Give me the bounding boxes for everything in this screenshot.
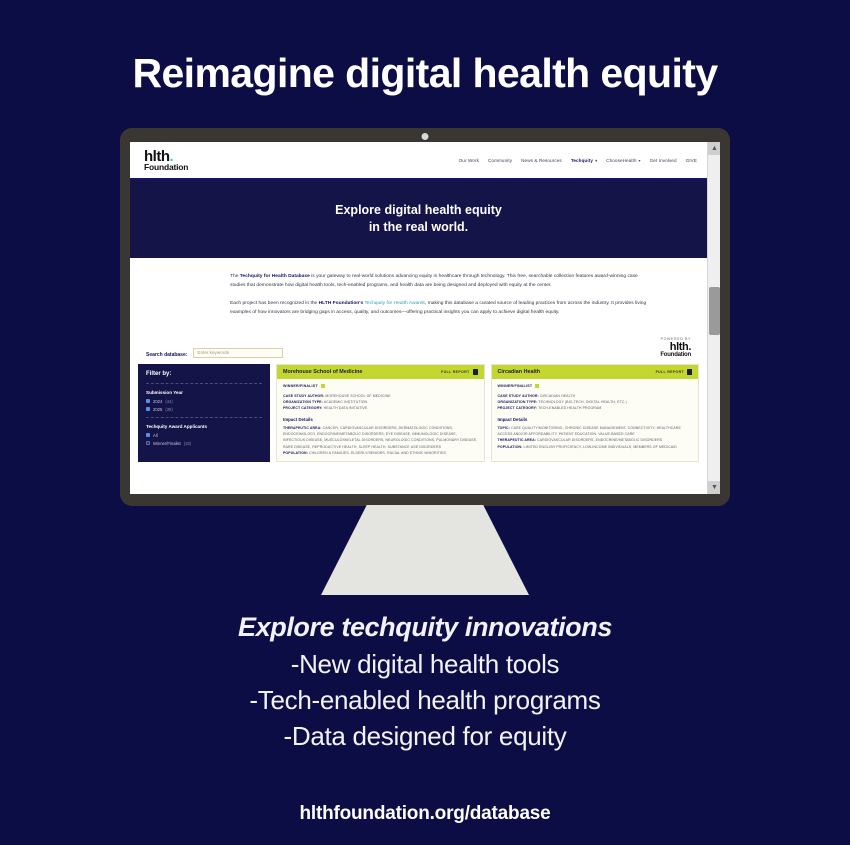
status-badge: WINNER/FINALIST — [283, 384, 478, 388]
hero-title-line-1: Explore digital health equity — [335, 202, 502, 219]
filter-group-submission-year: Submission Year — [146, 390, 262, 395]
result-card-header: Morehouse School of Medicine FULL REPORT — [277, 365, 484, 379]
nav-item-news-resources[interactable]: News & Resources — [521, 158, 562, 163]
meta-key: CASE STUDY AUTHOR: — [498, 394, 539, 398]
search-row: Search database: Enter keywords POWERED … — [130, 334, 707, 364]
intro-p2-bold: HLTH Foundation's — [319, 301, 364, 306]
impact-row: POPULATION: CHILDREN & FAMILIES, ELDERLY… — [283, 450, 478, 456]
hero-title-line-2: in the real world. — [335, 219, 502, 236]
nav-item-community[interactable]: Community — [488, 158, 512, 163]
scrollbar-thumb[interactable] — [709, 287, 720, 335]
impact-key: POPULATION: — [283, 451, 308, 455]
impact-key: THERAPEUTIC AREA: — [498, 438, 537, 442]
impact-value: CARE QUALITY/MONITORING, CHRONIC DISEASE… — [498, 426, 681, 436]
filter-option-all[interactable]: All — [146, 433, 262, 438]
document-icon — [473, 369, 478, 375]
intro-p2-pre: Each project has been recognized in the — [230, 301, 319, 306]
hero-title: Explore digital health equity in the rea… — [335, 202, 502, 236]
search-input[interactable]: Enter keywords — [193, 348, 283, 358]
impact-details-title: Impact Details — [283, 417, 478, 422]
meta-key: CASE STUDY AUTHOR: — [283, 394, 324, 398]
hero-banner: Explore digital health equity in the rea… — [130, 180, 707, 258]
filter-option-2025[interactable]: 2025 (39) — [146, 407, 262, 412]
meta-key: ORGANIZATION TYPE: — [498, 400, 538, 404]
result-card-title: Morehouse School of Medicine — [283, 369, 362, 375]
status-badge-label: WINNER/FINALIST — [498, 384, 533, 388]
meta-value: CIRCADIAN HEALTH — [540, 394, 575, 398]
result-card-header: Circadian Health FULL REPORT — [492, 365, 699, 379]
meta-value: MOREHOUSE SCHOOL OF MEDICINE — [325, 394, 390, 398]
full-report-label: FULL REPORT — [441, 370, 469, 374]
filter-option-label: All — [153, 433, 158, 438]
checkbox-icon[interactable] — [146, 433, 150, 437]
powered-by-logo-secondary: Foundation — [660, 352, 691, 358]
website-viewport: hlth. Foundation Our Work Community News… — [130, 142, 707, 494]
nav-item-give[interactable]: GIVE — [686, 158, 697, 163]
filter-option-label: Winner/Finalist — [153, 441, 181, 446]
nav-item-choosehealth-label: ChooseHealth — [606, 158, 636, 163]
impact-row: POPULATION: LIMITED ENGLISH PROFICIENCY,… — [498, 444, 693, 450]
filter-option-count: (18) — [184, 441, 191, 446]
badge-square-icon — [321, 384, 325, 388]
filter-divider — [146, 383, 262, 384]
nav-item-techquity[interactable]: Techquity▾ — [571, 158, 597, 163]
chevron-down-icon: ▾ — [595, 158, 597, 163]
filter-sidebar: Filter by: Submission Year 2024 (44) 202… — [138, 364, 270, 462]
filter-option-count: (44) — [165, 399, 172, 404]
filter-group-award-applicants: Techquity Award Applicants — [146, 424, 262, 429]
filter-option-winner-finalist[interactable]: Winner/Finalist (18) — [146, 441, 262, 446]
intro-p1-bold: Techquity for Health Database — [240, 274, 310, 279]
nav-item-our-work[interactable]: Our Work — [459, 158, 479, 163]
scroll-down-arrow-icon[interactable]: ▼ — [708, 481, 720, 494]
status-badge: WINNER/FINALIST — [498, 384, 693, 388]
monitor-device: hlth. Foundation Our Work Community News… — [120, 128, 730, 506]
intro-paragraph-2: Each project has been recognized in the … — [230, 299, 647, 317]
checkbox-icon[interactable] — [146, 399, 150, 403]
nav-item-choosehealth[interactable]: ChooseHealth▾ — [606, 158, 640, 163]
webcam-icon — [422, 133, 429, 140]
result-card[interactable]: Circadian Health FULL REPORT WINNER/FINA… — [491, 364, 700, 462]
checkbox-icon[interactable] — [146, 407, 150, 411]
meta-value: HEALTH DATA INITIATIVE — [324, 406, 368, 410]
meta-key: PROJECT CATEGORY: — [498, 406, 538, 410]
meta-value: ACADEMIC INSTITUTION — [324, 400, 367, 404]
impact-key: THERAPEUTIC AREA: — [283, 426, 322, 430]
filter-title: Filter by: — [146, 371, 262, 377]
result-card[interactable]: Morehouse School of Medicine FULL REPORT… — [276, 364, 485, 462]
impact-details-title: Impact Details — [498, 417, 693, 422]
full-report-link[interactable]: FULL REPORT — [441, 369, 477, 375]
search-label: Search database: — [146, 352, 187, 358]
impact-value: LIMITED ENGLISH PROFICIENCY, LOW-INCOME … — [524, 445, 677, 449]
hlth-foundation-logo[interactable]: hlth. Foundation — [144, 149, 188, 172]
filter-option-label: 2024 — [153, 399, 162, 404]
checkbox-icon[interactable] — [146, 441, 150, 445]
full-report-label: FULL REPORT — [656, 370, 684, 374]
meta-key: PROJECT CATEGORY: — [283, 406, 323, 410]
site-header: hlth. Foundation Our Work Community News… — [130, 142, 707, 180]
impact-key: POPULATION: — [498, 445, 523, 449]
scroll-up-arrow-icon[interactable]: ▲ — [708, 142, 720, 155]
caption-line-2: -Tech-enabled health programs — [0, 683, 850, 719]
intro-copy: The Techquity for Health Database is you… — [130, 258, 707, 334]
caption-line-3: -Data designed for equity — [0, 719, 850, 755]
filter-option-2024[interactable]: 2024 (44) — [146, 399, 262, 404]
chevron-down-icon: ▾ — [639, 158, 641, 163]
meta-row: PROJECT CATEGORY: TECH-ENABLED HEALTH PR… — [498, 405, 693, 411]
impact-key: TOPIC: — [498, 426, 510, 430]
caption-emphasis: Explore techquity innovations — [0, 612, 850, 643]
meta-value: TECH-ENABLED HEALTH PROGRAM — [538, 406, 601, 410]
nav-item-techquity-label: Techquity — [571, 158, 593, 163]
meta-key: ORGANIZATION TYPE: — [283, 400, 323, 404]
nav-item-get-involved[interactable]: Get Involved — [650, 158, 677, 163]
badge-square-icon — [535, 384, 539, 388]
filter-option-count: (39) — [165, 407, 172, 412]
impact-value: CARDIOVASCULAR DISORDERS, ENDOCRINE/META… — [537, 438, 662, 442]
results-area: Filter by: Submission Year 2024 (44) 202… — [130, 364, 707, 462]
browser-screen: hlth. Foundation Our Work Community News… — [130, 142, 720, 494]
full-report-link[interactable]: FULL REPORT — [656, 369, 692, 375]
monitor-bezel: hlth. Foundation Our Work Community News… — [120, 128, 730, 506]
caption-line-1: -New digital health tools — [0, 647, 850, 683]
meta-row: PROJECT CATEGORY: HEALTH DATA INITIATIVE — [283, 405, 478, 411]
result-card-title: Circadian Health — [498, 369, 541, 375]
impact-row: TOPIC: CARE QUALITY/MONITORING, CHRONIC … — [498, 425, 693, 437]
intro-p2-link[interactable]: Techquity for Health Awards — [363, 301, 425, 306]
monitor-stand — [321, 505, 529, 595]
primary-navigation: Our Work Community News & Resources Tech… — [459, 158, 697, 163]
filter-option-label: 2025 — [153, 407, 162, 412]
intro-paragraph-1: The Techquity for Health Database is you… — [230, 272, 647, 290]
impact-row: THERAPEUTIC AREA: CANCER, CARDIOVASCULAR… — [283, 425, 478, 450]
poster-url[interactable]: hlthfoundation.org/database — [0, 803, 850, 825]
impact-value: CHILDREN & FAMILIES, ELDERLY/SENIORS, RA… — [309, 451, 446, 455]
poster-caption: Explore techquity innovations -New digit… — [0, 612, 850, 755]
meta-value: TECHNOLOGY (BIO-TECH, DIGITAL HEALTH, ET… — [538, 400, 626, 404]
page-headline: Reimagine digital health equity — [0, 0, 850, 97]
filter-divider — [146, 417, 262, 418]
page-scrollbar[interactable]: ▲ ▼ — [707, 142, 720, 494]
result-card-body: WINNER/FINALIST CASE STUDY AUTHOR: MOREH… — [277, 379, 484, 461]
logo-secondary-text: Foundation — [144, 163, 188, 172]
powered-by-badge: POWERED BY hlth. Foundation — [660, 338, 691, 358]
status-badge-label: WINNER/FINALIST — [283, 384, 318, 388]
document-icon — [687, 369, 692, 375]
intro-p1-pre: The — [230, 274, 240, 279]
result-card-body: WINNER/FINALIST CASE STUDY AUTHOR: CIRCA… — [492, 379, 699, 455]
